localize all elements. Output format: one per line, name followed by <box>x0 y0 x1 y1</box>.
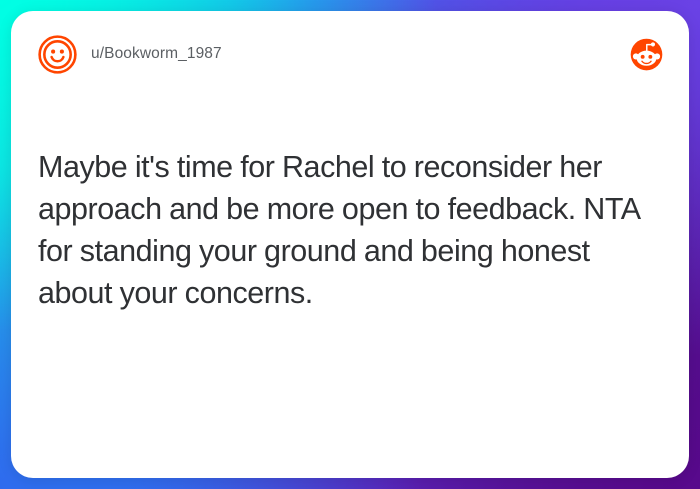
reddit-snoo-icon[interactable] <box>630 38 663 71</box>
post-body-text: Maybe it's time for Rachel to reconsider… <box>38 146 665 314</box>
smiley-face-icon[interactable] <box>38 35 77 74</box>
screenshot-root: u/Bookworm_1987 Maybe it's time for Rach <box>0 0 700 489</box>
post-header: u/Bookworm_1987 <box>11 11 689 97</box>
reddit-post-card: u/Bookworm_1987 Maybe it's time for Rach <box>11 11 689 478</box>
post-author-username[interactable]: u/Bookworm_1987 <box>91 45 222 63</box>
